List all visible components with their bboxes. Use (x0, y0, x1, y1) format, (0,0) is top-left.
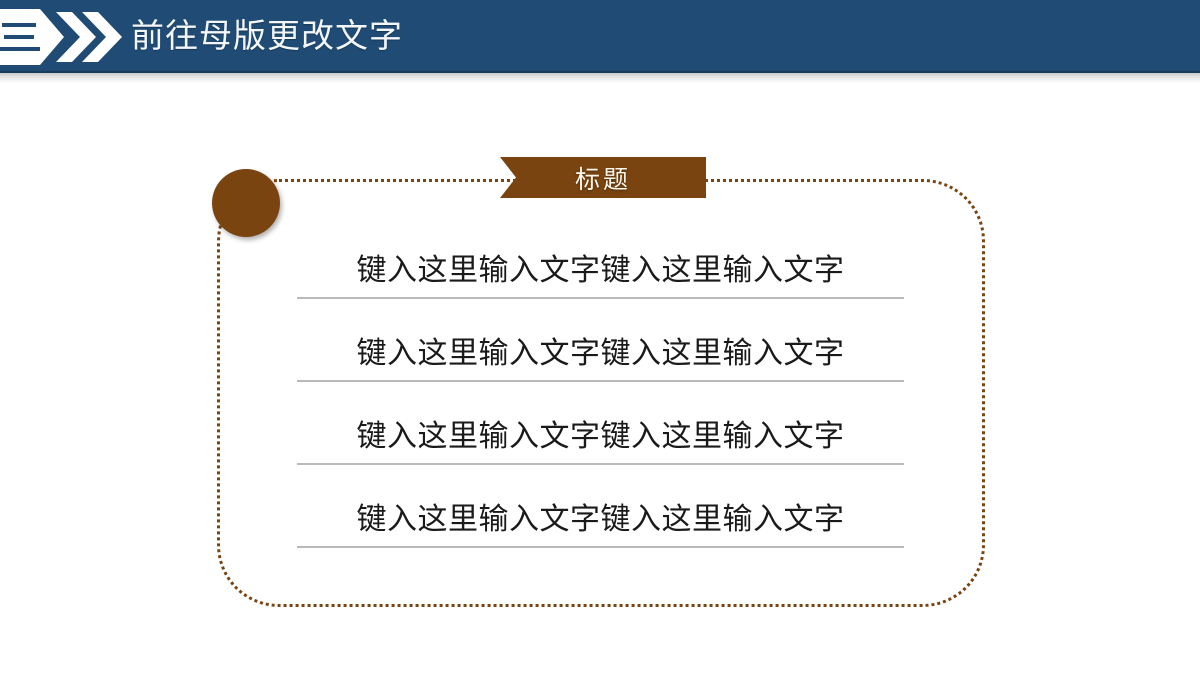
section-banner: 标题 (500, 157, 706, 198)
row-text: 键入这里输入文字键入这里输入文字 (297, 248, 904, 294)
list-item[interactable]: 键入这里输入文字键入这里输入文字 (297, 414, 904, 497)
presentation-slide: 前往母版更改文字 标题 键入这里输入文字键入这里输入文字 键入这里输入文字键入这… (0, 0, 1200, 675)
row-text: 键入这里输入文字键入这里输入文字 (297, 497, 904, 543)
row-underline (297, 380, 904, 382)
bubble-tail-shape (255, 218, 273, 236)
row-text: 键入这里输入文字键入这里输入文字 (297, 331, 904, 377)
content-row-list: 键入这里输入文字键入这里输入文字 键入这里输入文字键入这里输入文字 键入这里输入… (297, 248, 904, 580)
section-number-badge (0, 9, 64, 65)
page-title: 前往母版更改文字 (131, 13, 403, 61)
double-chevron-right-icon (56, 11, 126, 63)
list-item[interactable]: 键入这里输入文字键入这里输入文字 (297, 497, 904, 580)
speech-bubble-circle-icon (212, 169, 284, 241)
list-item[interactable]: 键入这里输入文字键入这里输入文字 (297, 331, 904, 414)
row-text: 键入这里输入文字键入这里输入文字 (297, 414, 904, 460)
list-item[interactable]: 键入这里输入文字键入这里输入文字 (297, 248, 904, 331)
banner-label: 标题 (500, 157, 706, 198)
row-underline (297, 463, 904, 465)
row-underline (297, 297, 904, 299)
row-underline (297, 546, 904, 548)
header-drop-shadow (0, 73, 1200, 83)
